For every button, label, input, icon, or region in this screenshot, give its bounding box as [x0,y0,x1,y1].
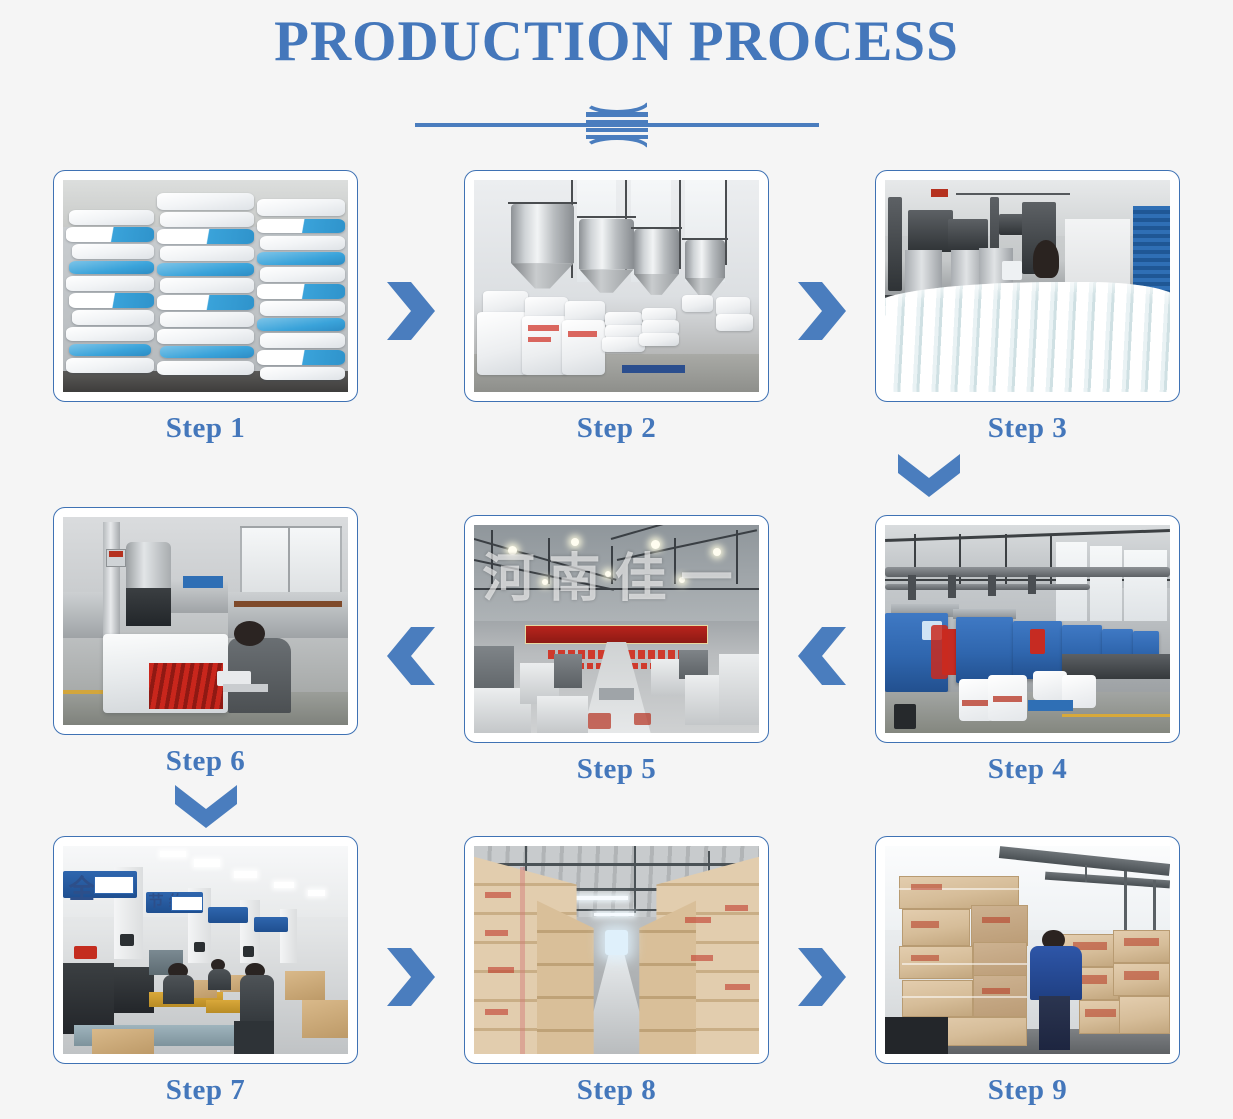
process-grid: Step 1 [0,170,1233,1107]
blue-injection-molding-machines-photo [885,525,1170,733]
step-label-7: Step 7 [166,1074,246,1107]
process-row-2: Step 6 [0,507,1233,830]
step-label-2: Step 2 [577,412,657,445]
worker-sorting-red-parts-photo [63,517,348,725]
step-label-3: Step 3 [988,412,1068,445]
ornament-bar [586,112,648,117]
step-cell-1[interactable]: Step 1 [0,170,411,445]
divider-ornament-icon [580,96,654,152]
step-cell-4[interactable]: Step 4 [822,507,1233,786]
arrow-step6-to-step7 [173,782,239,830]
warehouse-carton-aisle-photo [474,846,759,1054]
page-title: PRODUCTION PROCESS [0,8,1233,76]
step-cell-7[interactable]: 全 节 约 [0,836,411,1107]
steel-silo-hoppers-photo [474,180,759,392]
arrow-step3-to-step4 [896,451,962,499]
ornament-bar [586,128,648,132]
process-row-3: 全 节 约 [0,836,1233,1107]
step-cell-9[interactable]: Step 9 [822,836,1233,1107]
extrusion-line-plastic-sheets-photo [885,180,1170,392]
step-card-2[interactable] [464,170,769,402]
step-label-6: Step 6 [166,745,246,778]
step-label-4: Step 4 [988,753,1068,786]
ornament-bar [586,120,648,125]
step-card-5[interactable]: 河南佳一 [464,515,769,743]
step-label-9: Step 9 [988,1074,1068,1107]
arrow-step4-to-step5 [794,625,850,687]
stacked-raw-material-sacks-photo [63,180,348,392]
ornament-divider [415,96,819,152]
process-row-1: Step 1 [0,170,1233,445]
step-label-5: Step 5 [577,753,657,786]
step-cell-6[interactable]: Step 6 [0,507,411,830]
step-cell-3[interactable]: Step 3 [822,170,1233,445]
step-cell-5[interactable]: 河南佳一 [411,507,822,786]
step-card-8[interactable] [464,836,769,1064]
step-card-4[interactable] [875,515,1180,743]
step-label-1: Step 1 [166,412,246,445]
page-header: PRODUCTION PROCESS [0,0,1233,152]
step-card-6[interactable] [53,507,358,735]
step7-sign-char-1: 全 [69,869,95,906]
step-card-1[interactable] [53,170,358,402]
packing-assembly-line-photo: 全 节 约 [63,846,348,1054]
step-card-3[interactable] [875,170,1180,402]
arrow-step5-to-step6 [383,625,439,687]
step-cell-2[interactable]: Step 2 [411,170,822,445]
worker-loading-cartons-photo [885,846,1170,1054]
step-card-7[interactable]: 全 节 约 [53,836,358,1064]
factory-hall-watermark-photo: 河南佳一 [474,525,759,733]
step-cell-8[interactable]: Step 8 [411,836,822,1107]
step-label-8: Step 8 [577,1074,657,1107]
step-card-9[interactable] [875,836,1180,1064]
step5-watermark-text: 河南佳一 [483,536,751,611]
